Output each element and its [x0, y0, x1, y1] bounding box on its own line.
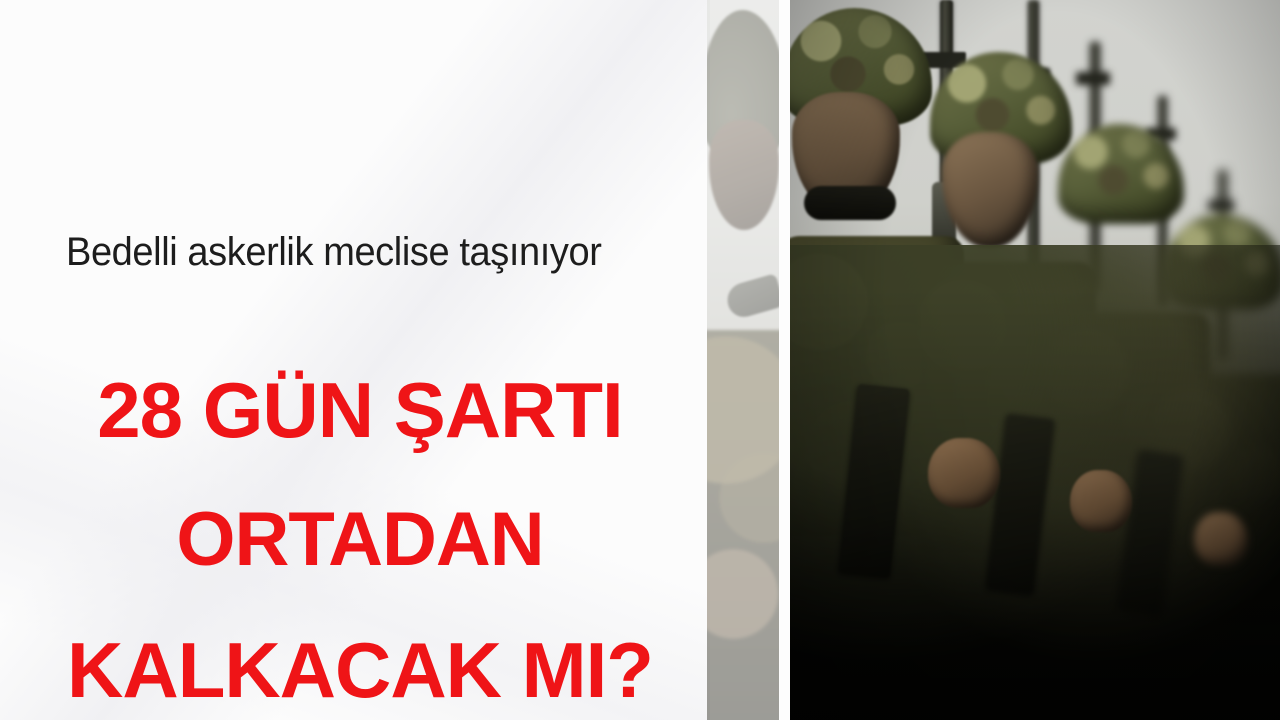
hand-grip-2 [1070, 470, 1132, 532]
faded-soldier-strip [707, 0, 779, 720]
hand-grip-1 [928, 438, 1000, 508]
headline-line-2: ORTADAN [60, 475, 660, 605]
news-card: Bedelli askerlik meclise taşınıyor 28 GÜ… [0, 0, 1280, 720]
hand-grip-3 [1194, 512, 1248, 566]
kicker-text: Bedelli askerlik meclise taşınıyor [66, 230, 602, 276]
soldier-front-chin-strap [804, 186, 896, 220]
rifle-sight-far-2 [1076, 72, 1110, 85]
text-panel: Bedelli askerlik meclise taşınıyor 28 GÜ… [0, 0, 710, 720]
headline-line-3: KALKACAK MI? [60, 605, 660, 720]
headline-line-1: 28 GÜN ŞARTI [60, 345, 660, 475]
soldiers-photo [790, 0, 1280, 720]
strip-body [707, 330, 779, 720]
rifle-sight-far-3 [1208, 200, 1234, 211]
headline: 28 GÜN ŞARTI ORTADAN KALKACAK MI? [60, 345, 660, 720]
